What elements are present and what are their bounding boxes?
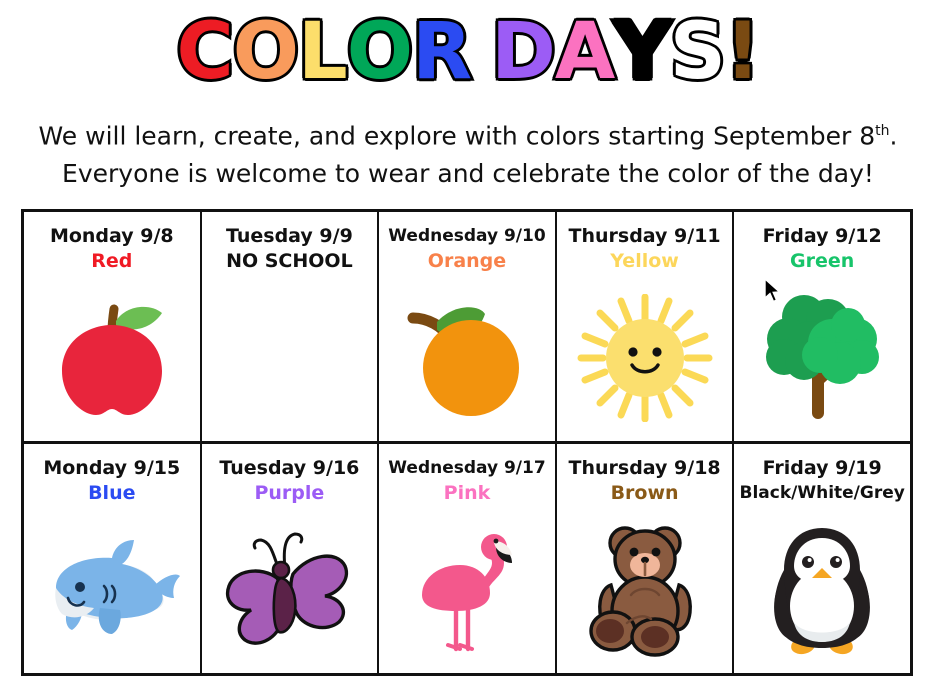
apple-illustration xyxy=(24,275,200,441)
penguin-illustration xyxy=(734,507,910,673)
calendar-cell-friday-9-12[interactable]: Friday 9/12 Green xyxy=(734,212,910,441)
teddy-bear-illustration xyxy=(557,507,733,673)
subtitle-line-1-text: We will learn, create, and explore with … xyxy=(39,121,876,150)
title-letter-c: C xyxy=(176,6,232,98)
shark-illustration xyxy=(24,507,200,673)
calendar-cell-thursday-9-18[interactable]: Thursday 9/18 Brown xyxy=(557,444,735,673)
subtitle-line-1-period: . xyxy=(889,121,897,150)
calendar-cell-wednesday-9-10[interactable]: Wednesday 9/10 Orange xyxy=(379,212,557,441)
calendar-cell-monday-9-8[interactable]: Monday 9/8 Red xyxy=(24,212,202,441)
calendar-cell-color-label: NO SCHOOL xyxy=(226,248,353,275)
calendar-cell-color-label: Black/White/Grey xyxy=(740,480,905,507)
calendar-cell-day-label: Friday 9/12 xyxy=(763,224,882,248)
calendar-cell-day-label: Wednesday 9/17 xyxy=(388,456,545,480)
calendar-cell-color-label: Purple xyxy=(254,480,324,507)
flamingo-illustration xyxy=(379,507,555,673)
calendar-cell-thursday-9-11[interactable]: Thursday 9/11 Yellow xyxy=(557,212,735,441)
calendar-cell-friday-9-19[interactable]: Friday 9/19 Black/White/Grey xyxy=(734,444,910,673)
calendar-cell-color-label: Orange xyxy=(428,248,506,275)
title-letter-o1: O xyxy=(233,6,298,98)
tree-illustration xyxy=(734,275,910,441)
page-title: COLORDAYS! xyxy=(0,6,936,98)
calendar-cell-color-label: Pink xyxy=(444,480,491,507)
calendar-cell-day-label: Thursday 9/11 xyxy=(569,224,721,248)
title-letter-y: Y xyxy=(614,6,669,98)
calendar-cell-day-label: Friday 9/19 xyxy=(763,456,882,480)
title-letter-a: A xyxy=(555,6,614,98)
sun-illustration xyxy=(557,275,733,441)
subtitle-line-2: Everyone is welcome to wear and celebrat… xyxy=(0,155,936,193)
subtitle-line-1: We will learn, create, and explore with … xyxy=(0,112,936,155)
calendar-cell-day-label: Tuesday 9/9 xyxy=(226,224,353,248)
calendar-cell-day-label: Thursday 9/18 xyxy=(569,456,721,480)
calendar-week-1-row: Monday 9/8 Red Tuesday 9/9 NO SCHOOL xyxy=(24,212,910,444)
calendar-cell-monday-9-15[interactable]: Monday 9/15 Blue xyxy=(24,444,202,673)
subtitle-ordinal-suffix: th xyxy=(875,123,889,139)
orange-illustration xyxy=(379,275,555,441)
calendar-cell-color-label: Brown xyxy=(611,480,679,507)
calendar-cell-tuesday-9-9[interactable]: Tuesday 9/9 NO SCHOOL xyxy=(202,212,380,441)
color-days-poster: COLORDAYS! We will learn, create, and ex… xyxy=(0,0,936,696)
subtitle: We will learn, create, and explore with … xyxy=(0,112,936,193)
calendar-cell-color-label: Blue xyxy=(88,480,135,507)
calendar-cell-color-label: Yellow xyxy=(610,248,679,275)
calendar-cell-color-label: Green xyxy=(790,248,854,275)
butterfly-illustration xyxy=(202,507,378,673)
title-letter-s: S xyxy=(670,6,725,98)
mouse-pointer-icon xyxy=(764,278,782,304)
calendar-week-2-row: Monday 9/15 Blue xyxy=(24,444,910,673)
no-illustration-placeholder xyxy=(202,275,378,441)
calendar-cell-day-label: Monday 9/15 xyxy=(43,456,180,480)
title-letter-d: D xyxy=(491,6,555,98)
title-letter-o2: O xyxy=(347,6,412,98)
calendar-cell-day-label: Tuesday 9/16 xyxy=(219,456,359,480)
calendar-cell-wednesday-9-17[interactable]: Wednesday 9/17 Pink xyxy=(379,444,557,673)
calendar-cell-day-label: Monday 9/8 xyxy=(50,224,174,248)
title-letter-exclaim: ! xyxy=(725,6,760,98)
calendar-cell-tuesday-9-16[interactable]: Tuesday 9/16 Purple xyxy=(202,444,380,673)
title-letter-r: R xyxy=(412,6,471,98)
calendar-cell-day-label: Wednesday 9/10 xyxy=(388,224,545,248)
calendar-cell-color-label: Red xyxy=(91,248,132,275)
title-letter-l: L xyxy=(298,6,347,98)
